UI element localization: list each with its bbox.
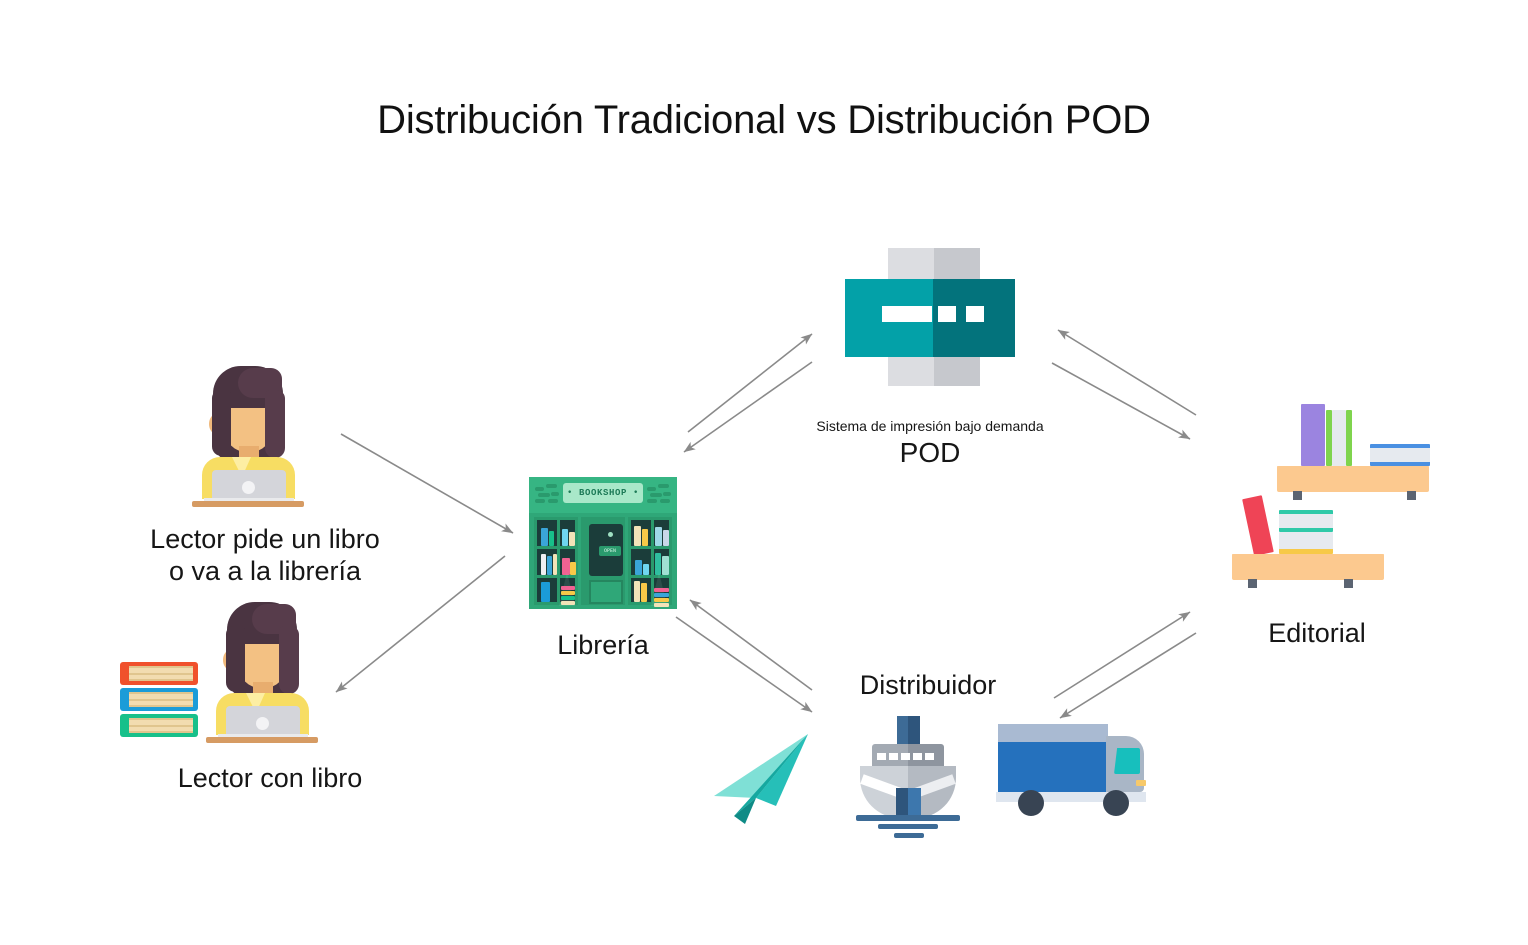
ship-funnel [897,716,908,746]
bookstore-icon: • BOOKSHOP • [529,477,677,609]
hair-side-left [226,626,245,692]
truck-wheel [1018,790,1044,816]
publisher-shelf-top-icon [1277,408,1429,500]
distributor-label: Distribuidor [793,670,1063,702]
door-glass: OPEN [589,524,623,576]
truck-window [1114,748,1140,774]
hair-side-right [279,626,299,694]
shelf-leg [1344,579,1353,588]
arrow-reader-request-to-bookstore [341,434,513,533]
book-red [120,662,198,685]
book-pages [129,666,193,681]
ship-window [877,753,886,760]
water-line [894,833,924,838]
bookstore-label: Librería [478,630,728,662]
book-red-tilted [1242,495,1274,556]
arrow-publisher-to-distributor [1060,633,1196,718]
water-line [878,824,938,829]
publisher-shelf-bottom-icon [1232,496,1384,588]
arrow-publisher-to-pod [1058,330,1196,415]
shelf-leg [1407,491,1416,500]
reader-request-icon [192,362,304,507]
reader-request-label: Lector pide un libro o va a la librería [55,524,475,588]
hair-side-left [212,390,231,456]
book-green [1346,410,1352,466]
desk [206,737,318,743]
truck-wheel [1103,790,1129,816]
foliage-left-icon [535,484,561,504]
shelf-leg [1248,579,1257,588]
arrow-distributor-to-publisher [1054,612,1190,698]
ship-window [913,753,922,760]
page-title: Distribución Tradicional vs Distribución… [0,98,1528,143]
printer-slot-wide [882,306,932,322]
pod-sublabel: Sistema de impresión bajo demanda [718,418,1142,435]
foliage-right-icon [647,484,673,504]
open-sign: OPEN [599,546,621,556]
bookshop-door[interactable]: OPEN [581,517,625,605]
bookshop-sign: • BOOKSHOP • [563,483,643,503]
pod-label: POD [788,436,1072,469]
publisher-label: Editorial [1187,618,1447,650]
truck-headlight [1136,780,1146,786]
window-shelf [537,546,575,549]
ship-window [925,753,934,760]
laptop-logo [256,717,269,730]
desk [192,501,304,507]
laptop-logo [242,481,255,494]
bookshop-window-right [628,517,672,605]
reader-with-book-icon [206,598,318,743]
truck-cargo-top [998,724,1108,744]
shelf-board [1277,466,1429,492]
ship-window [889,753,898,760]
ship-window [901,753,910,760]
printer-slot-small-1 [938,306,956,322]
door-lamp-icon [608,532,613,537]
book-purple [1301,404,1325,466]
diagram-canvas: Distribución Tradicional vs Distribución… [0,0,1528,945]
book-pages [129,718,193,733]
ship-bow-right [908,788,921,818]
printer-slot-small-2 [966,306,984,322]
ship-bow-left [896,788,908,818]
hair-side-right [265,390,285,458]
shelf-board [1232,554,1384,580]
window-shelf [631,546,669,549]
book-blue-horizontal [1370,444,1430,466]
delivery-truck-icon [996,716,1146,816]
book-stack-icon [120,662,198,740]
pod-printer-icon [840,248,1020,386]
book-teal-horizontal [1279,510,1333,532]
truck-cargo-box [998,742,1108,792]
reader-with-book-label: Lector con libro [70,763,470,795]
book-blue [120,688,198,711]
book-pages [129,692,193,707]
bookshop-window-left [534,517,578,605]
water-line [856,815,960,821]
book-green [120,714,198,737]
book-white [1332,410,1346,466]
book-yellow-horizontal [1279,532,1333,554]
door-panel [589,580,623,604]
ship-funnel [908,716,920,746]
paper-plane-icon [712,728,817,828]
cargo-ship-icon [856,716,960,828]
